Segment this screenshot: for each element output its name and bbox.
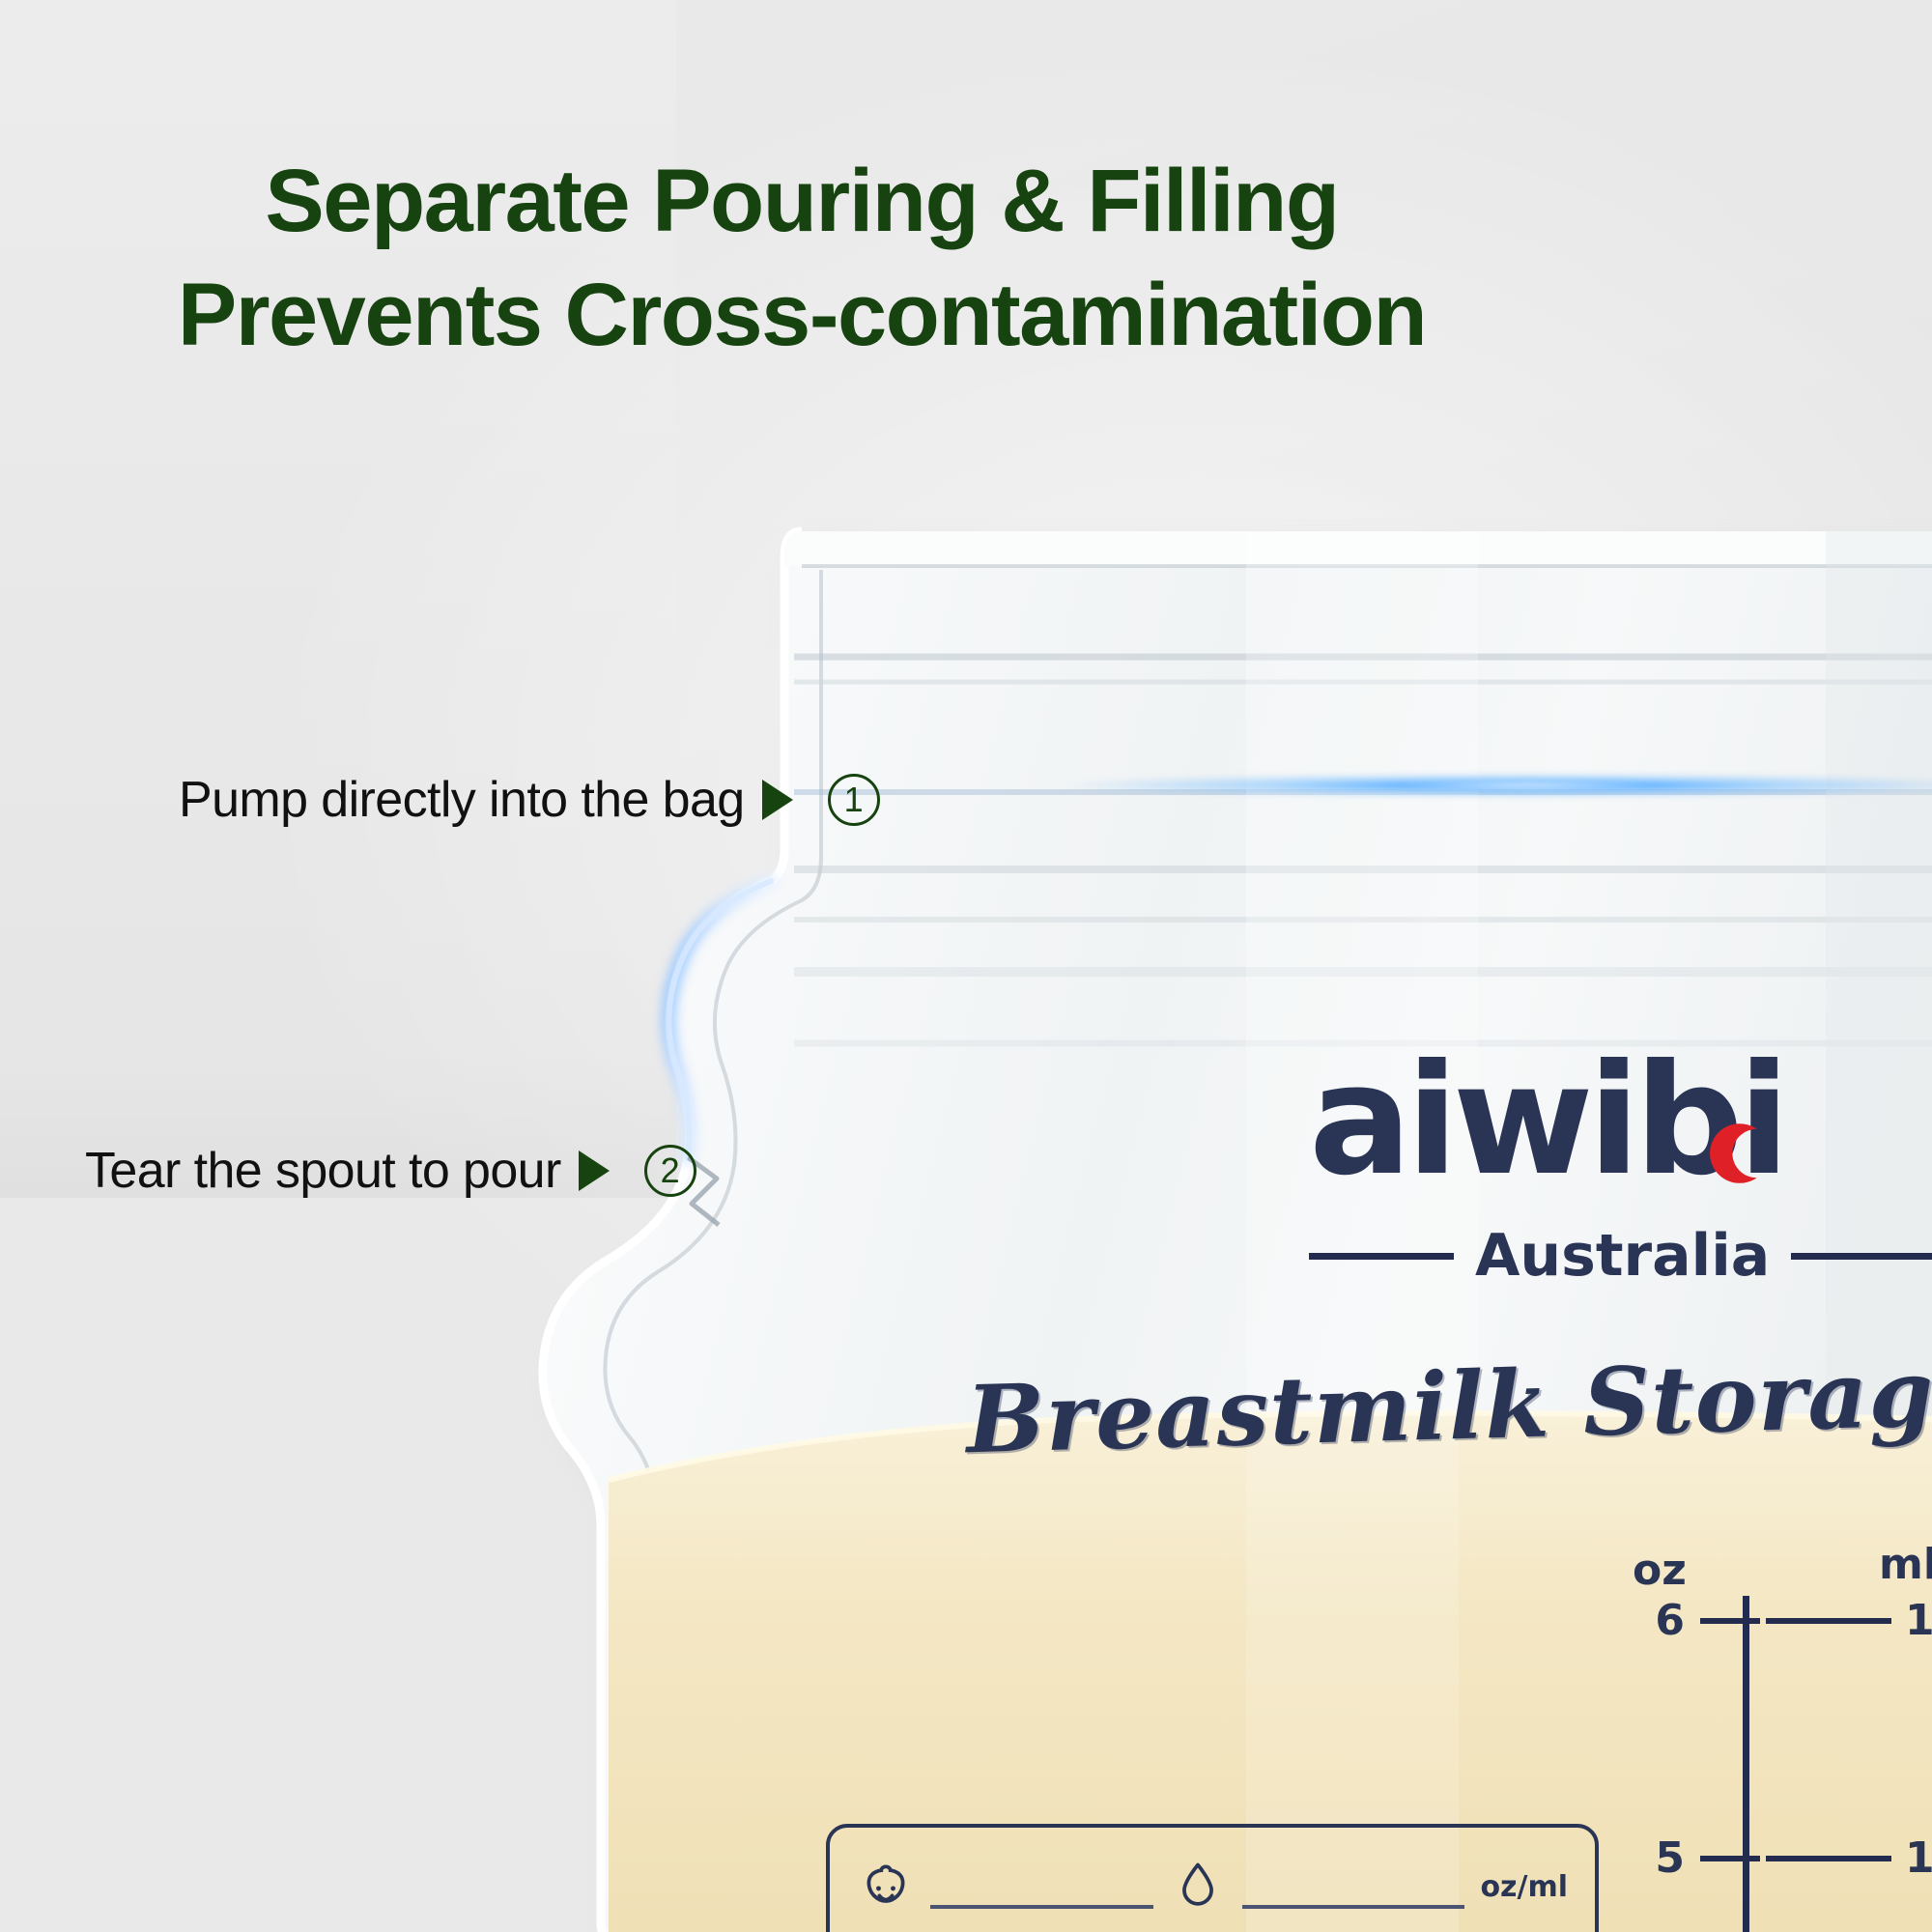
- step-2-number: 2: [644, 1145, 696, 1197]
- headline: Separate Pouring & Filling Prevents Cros…: [0, 145, 1604, 373]
- product-marketing-image: Separate Pouring & Filling Prevents Cros…: [0, 0, 1932, 1932]
- step-1-annotation: Pump directly into the bag 1: [179, 771, 880, 829]
- triangle-right-icon: [579, 1151, 610, 1191]
- step-2-annotation: Tear the spout to pour 2: [85, 1142, 696, 1200]
- step-2-label: Tear the spout to pour: [85, 1142, 561, 1200]
- step-1-number: 1: [828, 774, 880, 826]
- headline-line-2: Prevents Cross-contamination: [0, 259, 1604, 373]
- breastmilk-storage-bag: [512, 502, 1932, 1932]
- triangle-right-icon: [762, 780, 793, 820]
- headline-line-1: Separate Pouring & Filling: [265, 152, 1338, 250]
- step-1-label: Pump directly into the bag: [179, 771, 745, 829]
